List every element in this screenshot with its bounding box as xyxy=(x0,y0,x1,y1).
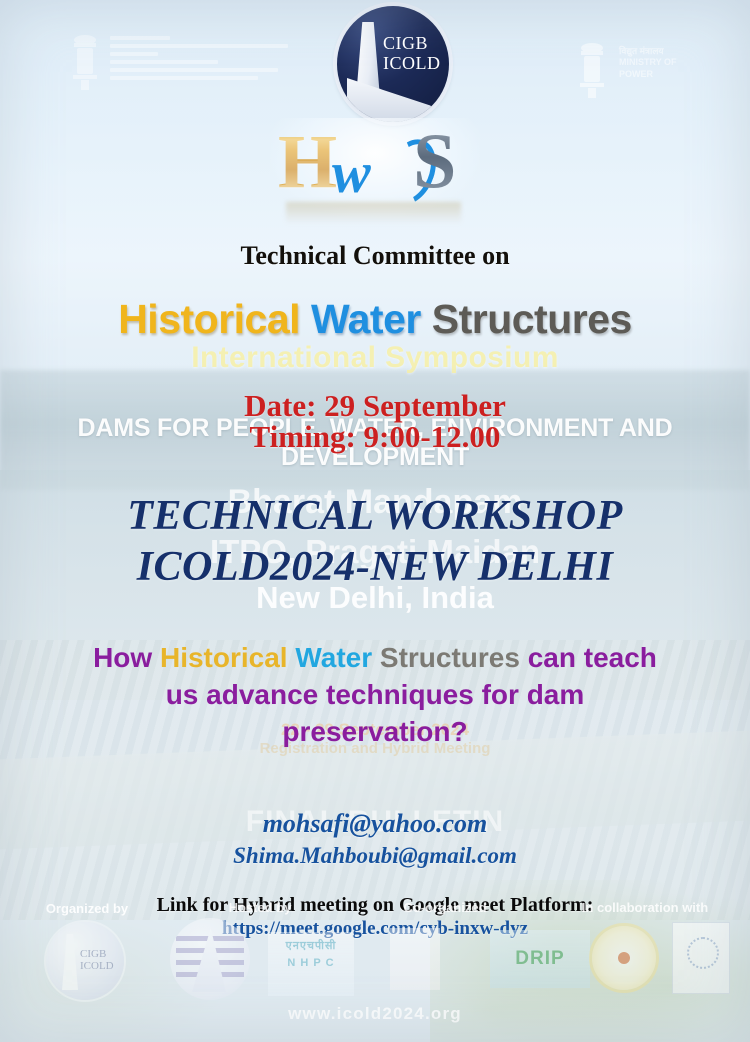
government-of-india-emblem xyxy=(68,32,298,104)
title-word-water: Water xyxy=(311,296,421,342)
dam-silhouette-icon xyxy=(62,934,78,990)
center-dot-icon xyxy=(618,952,630,964)
workshop-line1: TECHNICAL WORKSHOP xyxy=(0,492,750,540)
ministry-of-power-emblem: विद्युत मंत्रालय MINISTRY OF POWER xyxy=(575,40,750,110)
sponsor-logo-icold: CIGB ICOLD xyxy=(46,922,124,1000)
question-prefix: How xyxy=(93,642,160,673)
hws-reflection xyxy=(286,202,461,224)
sponsor-logo-nhpc: एनएचपीसी N H P C xyxy=(268,932,354,996)
ashoka-pillar-icon xyxy=(68,32,102,94)
sponsor-logo-cwc xyxy=(170,918,250,1000)
ashoka-pillar-icon xyxy=(575,40,609,102)
organized-by-label: Organized by xyxy=(22,901,152,916)
question-space-2 xyxy=(372,642,380,673)
workshop-line2: ICOLD2024-NEW DELHI xyxy=(0,543,750,591)
page-title: Historical Water Structures xyxy=(0,296,750,343)
nhpc-latin-label: N H P C xyxy=(268,955,354,972)
question-word-historical: Historical xyxy=(160,642,288,673)
ministry-line2: POWER xyxy=(619,69,677,80)
contact-email-secondary[interactable]: Shima.Mahboubi@gmail.com xyxy=(0,843,750,869)
icold-logo-line1: CIGB xyxy=(383,33,441,53)
question-line3: preservation? xyxy=(0,714,750,751)
hws-letter-w: w xyxy=(332,144,371,202)
sponsor-logo-drip: DRIP xyxy=(490,930,590,988)
poster: International Symposium DAMS FOR PEOPLE,… xyxy=(0,0,750,1042)
question-line1: How Historical Water Structures can teac… xyxy=(0,640,750,677)
ministry-line1: MINISTRY OF xyxy=(619,57,677,68)
sponsor-icold-line1: CIGB xyxy=(80,948,114,960)
sponsor-logo-certificate xyxy=(672,922,730,994)
hws-logo: H w S xyxy=(270,118,480,218)
seal-icon xyxy=(687,937,719,969)
title-word-historical: Historical xyxy=(118,296,300,342)
hws-letter-h: H xyxy=(278,124,337,200)
contact-email-primary[interactable]: mohsafi@yahoo.com xyxy=(0,809,750,839)
sponsor-icold-line2: ICOLD xyxy=(80,960,114,972)
event-timing: Timing: 9:00-12.00 xyxy=(0,419,750,455)
title-word-structures: Structures xyxy=(432,296,632,342)
question-line2: us advance techniques for dam xyxy=(0,677,750,714)
emblem-left-text-lines xyxy=(110,36,288,84)
committee-prefix: Technical Committee on xyxy=(0,241,750,271)
icold-logo-line2: ICOLD xyxy=(383,53,441,73)
hws-letter-s: S xyxy=(413,122,456,200)
question-suffix: can teach xyxy=(520,642,657,673)
sponsor-icold-text: CIGB ICOLD xyxy=(80,948,114,972)
sponsor-logo-unnamed xyxy=(390,928,440,990)
reservoir-arc-icon xyxy=(347,78,442,122)
cigb-icold-logo: CIGB ICOLD xyxy=(337,6,449,122)
question-word-water: Water xyxy=(295,642,372,673)
ministry-hindi-label: विद्युत मंत्रालय xyxy=(619,46,677,57)
nhpc-hindi-label: एनएचपीसी xyxy=(268,938,354,955)
workshop-question: How Historical Water Structures can teac… xyxy=(0,640,750,751)
question-word-structures: Structures xyxy=(380,642,520,673)
sponsor-logo-emblem-round xyxy=(592,926,656,990)
icold-logo-text: CIGB ICOLD xyxy=(383,33,441,73)
